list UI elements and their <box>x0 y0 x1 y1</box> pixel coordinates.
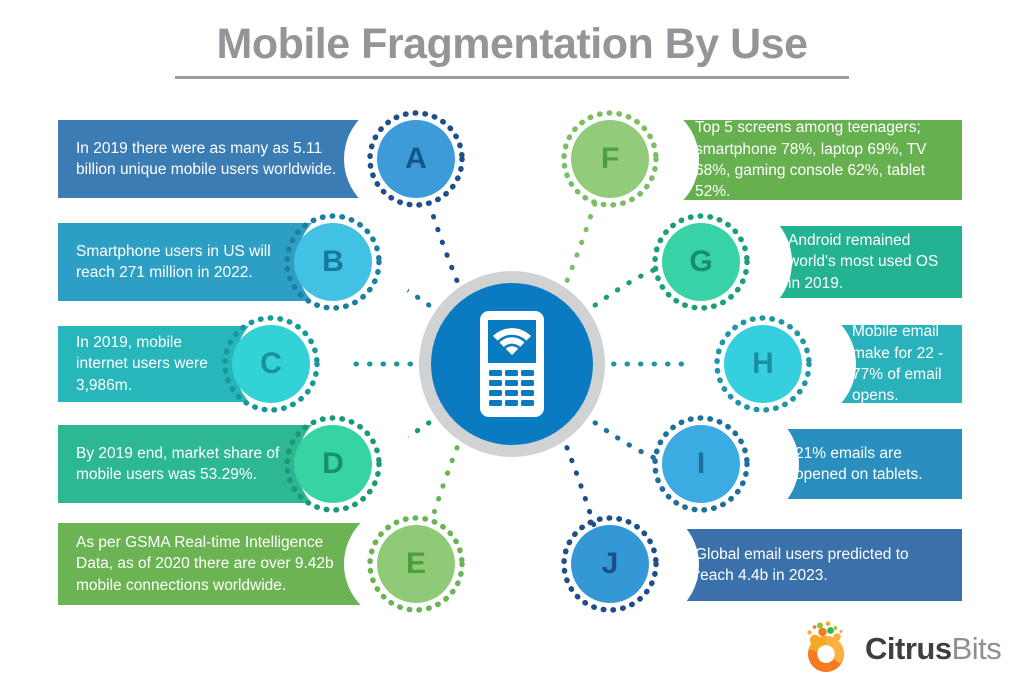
fact-text-c: In 2019, mobile internet users were 3,98… <box>76 332 237 396</box>
center-hub-disc <box>431 283 593 445</box>
node-circle-j[interactable]: J <box>558 512 662 616</box>
fact-box-h[interactable]: Mobile email make for 22 - 77% of email … <box>812 325 962 403</box>
fact-text-b: Smartphone users in US will reach 271 mi… <box>76 241 299 284</box>
node-letter-e: E <box>406 549 426 579</box>
node-circle-d[interactable]: D <box>281 412 385 516</box>
fact-text-h: Mobile email make for 22 - 77% of email … <box>852 321 946 407</box>
fact-text-g: Android remained world's most used OS in… <box>788 230 946 294</box>
logo-name-light: Bits <box>952 631 1002 666</box>
node-circle-g[interactable]: G <box>649 210 753 314</box>
node-letter-h: H <box>752 349 774 379</box>
citrusbits-donut-icon <box>795 620 857 678</box>
node-circle-i[interactable]: I <box>649 412 753 516</box>
node-letter-d: D <box>322 449 344 479</box>
fact-text-e: As per GSMA Real-time Intelligence Data,… <box>76 532 346 596</box>
infographic-canvas: Mobile Fragmentation By Use In 2019 ther… <box>0 0 1024 691</box>
node-circle-a[interactable]: A <box>364 107 468 211</box>
logo-wordmark: CitrusBits <box>865 632 1001 666</box>
fact-box-f[interactable]: Top 5 screens among teenagers; smartphon… <box>655 120 962 200</box>
fact-box-i[interactable]: 21% emails are opened on tablets. <box>755 429 962 499</box>
node-circle-h[interactable]: H <box>711 312 815 416</box>
node-circle-c[interactable]: C <box>219 312 323 416</box>
node-letter-g: G <box>689 247 712 277</box>
fact-box-a[interactable]: In 2019 there were as many as 5.11 billi… <box>58 120 388 198</box>
node-circle-f[interactable]: F <box>558 107 662 211</box>
fact-text-f: Top 5 screens among teenagers; smartphon… <box>695 117 946 203</box>
node-letter-a: A <box>405 144 427 174</box>
fact-box-g[interactable]: Android remained world's most used OS in… <box>748 226 962 298</box>
fact-text-j: Global email users predicted to reach 4.… <box>695 544 946 587</box>
fact-box-e[interactable]: As per GSMA Real-time Intelligence Data,… <box>58 523 388 605</box>
citrusbits-logo[interactable]: CitrusBits <box>795 618 1000 680</box>
fact-text-a: In 2019 there were as many as 5.11 billi… <box>76 138 346 181</box>
node-circle-b[interactable]: B <box>281 210 385 314</box>
node-letter-c: C <box>260 349 282 379</box>
fact-box-j[interactable]: Global email users predicted to reach 4.… <box>655 529 962 601</box>
fact-text-d: By 2019 end, market share of mobile user… <box>76 443 299 486</box>
node-letter-j: J <box>602 549 619 579</box>
mobile-phone-wifi-icon <box>477 309 547 419</box>
node-letter-i: I <box>697 449 705 479</box>
center-hub <box>419 271 605 457</box>
node-letter-b: B <box>322 247 344 277</box>
node-letter-f: F <box>601 144 619 174</box>
node-circle-e[interactable]: E <box>364 512 468 616</box>
fact-text-i: 21% emails are opened on tablets. <box>795 443 946 486</box>
logo-name-bold: Citrus <box>865 631 952 666</box>
